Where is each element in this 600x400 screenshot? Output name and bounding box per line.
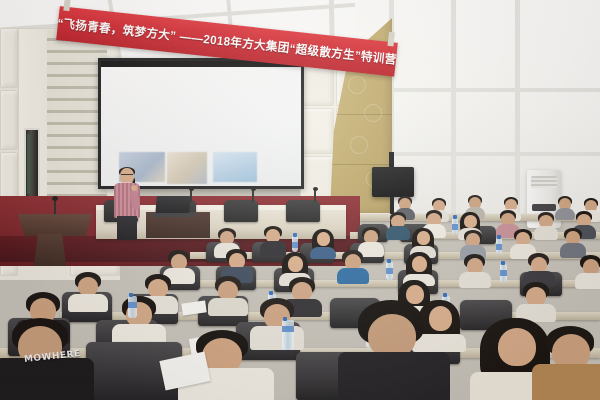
audience-person bbox=[462, 254, 488, 286]
laptop-base bbox=[152, 213, 196, 217]
audience-person bbox=[72, 272, 104, 310]
audience-person-foreground bbox=[540, 326, 600, 400]
audience-person bbox=[312, 229, 334, 257]
auditorium-photo: “飞扬青春，筑梦方大” ——2018年方大集团“超级散方生”特训营 bbox=[0, 0, 600, 400]
exec-chair bbox=[286, 200, 320, 222]
ac-vent-icon bbox=[531, 176, 557, 188]
audience-person bbox=[562, 228, 584, 256]
slide-image-right bbox=[213, 152, 257, 182]
banner-tie-right bbox=[387, 32, 394, 47]
glasses-icon bbox=[121, 174, 133, 178]
audience-person bbox=[520, 282, 552, 320]
audience-person bbox=[118, 296, 160, 344]
presenter bbox=[112, 168, 142, 240]
audience-person-foreground bbox=[350, 300, 440, 400]
audience-person bbox=[340, 250, 366, 282]
lectern-microphone-icon bbox=[54, 200, 56, 215]
table-microphone-icon bbox=[314, 190, 316, 202]
lectern bbox=[18, 214, 92, 236]
ac-control-panel bbox=[532, 204, 556, 211]
exec-chair bbox=[224, 200, 258, 222]
stage-monitor bbox=[372, 167, 414, 197]
audience-person bbox=[526, 253, 552, 285]
laptop bbox=[155, 196, 190, 214]
audience-person bbox=[262, 226, 284, 254]
audience-person bbox=[578, 255, 600, 287]
slide-image-middle bbox=[167, 152, 207, 184]
lectern-base bbox=[34, 234, 66, 266]
audience-person bbox=[536, 212, 556, 238]
audience-person bbox=[212, 276, 244, 314]
audience-person bbox=[556, 196, 574, 218]
table-microphone-icon bbox=[252, 190, 254, 202]
banner-tie-left bbox=[63, 0, 70, 11]
wall-speaker-icon bbox=[24, 128, 40, 200]
audience-person bbox=[388, 212, 408, 238]
